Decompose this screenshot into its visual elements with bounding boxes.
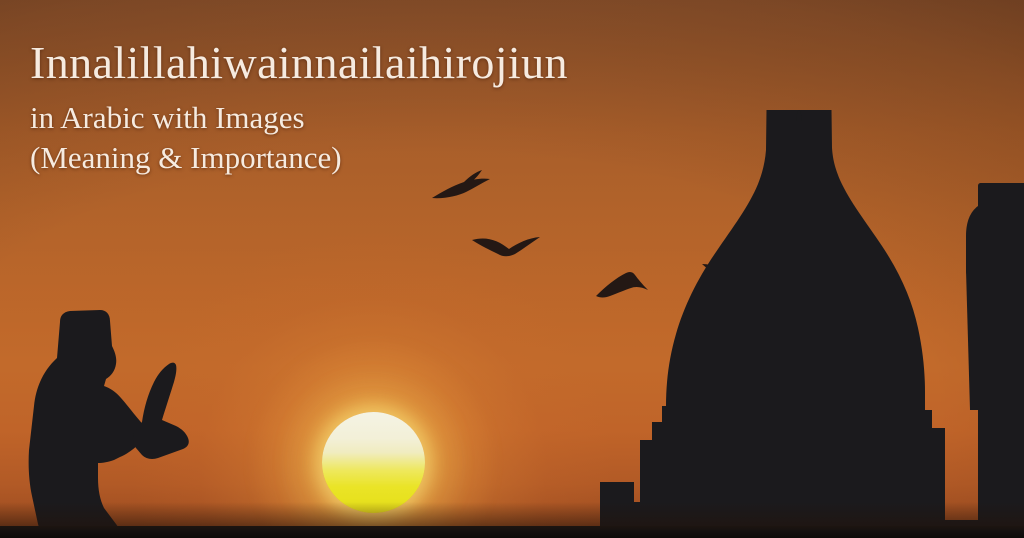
ground-haze (0, 502, 1024, 528)
page-subtitle: in Arabic with Images (Meaning & Importa… (30, 98, 790, 179)
dark-horizon-band (0, 526, 1024, 538)
minaret (978, 183, 1024, 538)
headline-block: Innalillahiwainnailaihirojiun in Arabic … (30, 38, 790, 178)
minaret-shaft-step (966, 270, 978, 410)
praying-hands (133, 363, 189, 459)
sunset-mosque-banner: Innalillahiwainnailaihirojiun in Arabic … (0, 0, 1024, 538)
page-title: Innalillahiwainnailaihirojiun (30, 38, 790, 88)
dome-finial-spire (796, 110, 802, 148)
page-subtitle-line-2: (Meaning & Importance) (30, 138, 790, 178)
page-subtitle-line-1: in Arabic with Images (30, 100, 305, 135)
bird-icon (472, 237, 540, 256)
